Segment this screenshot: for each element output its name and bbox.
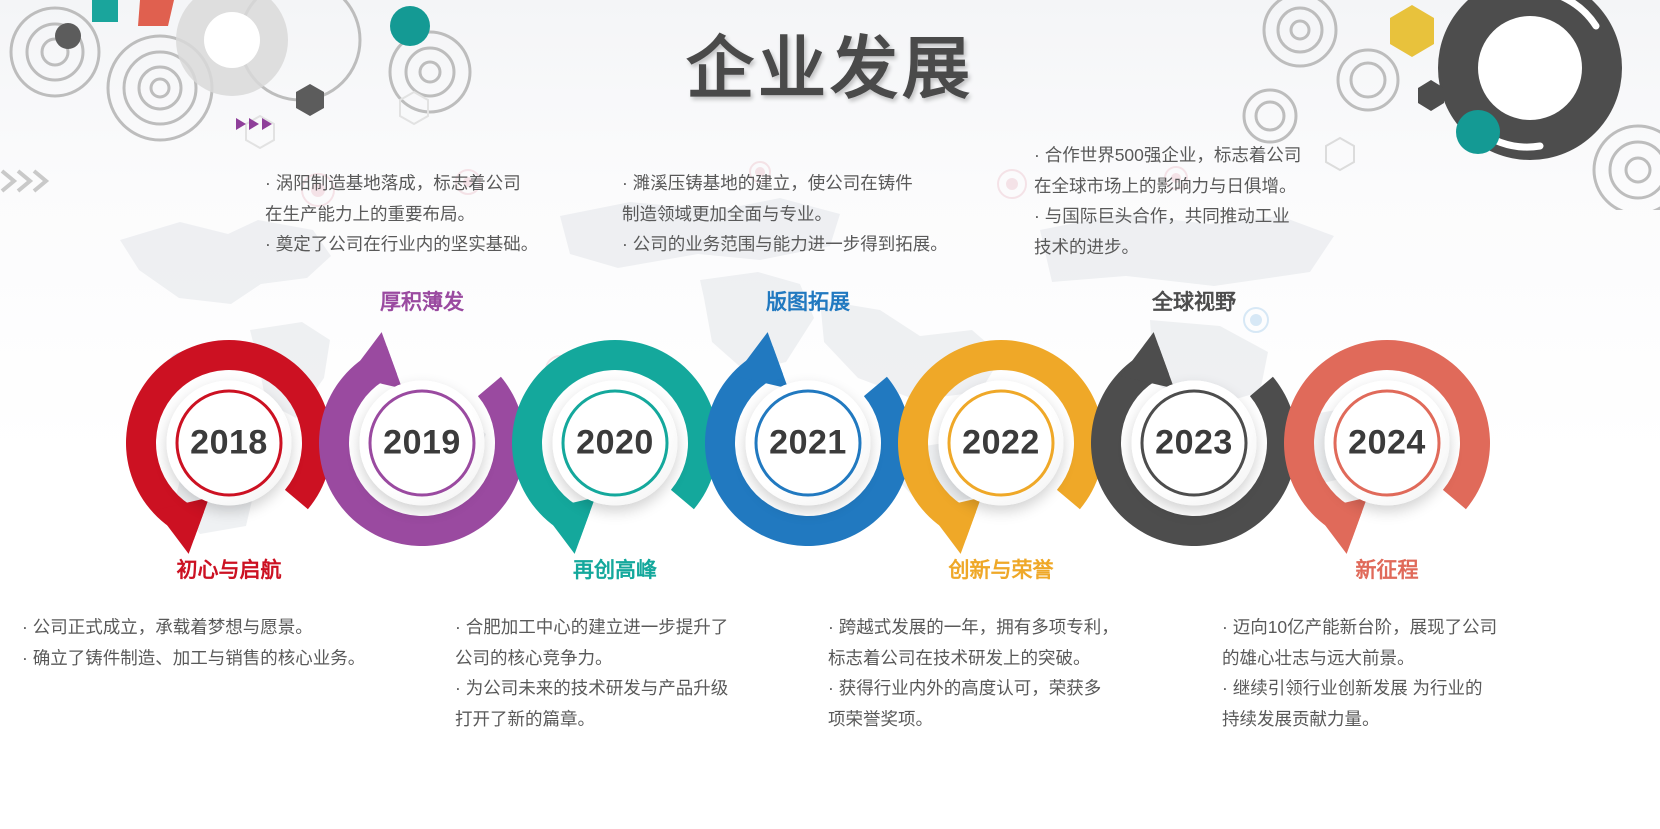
note-block-2018: · 涡阳制造基地落成，标志着公司 在生产能力上的重要布局。 · 奠定了公司在行业…	[265, 168, 538, 260]
year-label-2021: 2021	[769, 424, 847, 463]
milestone-label-2019: 厚积薄发	[380, 286, 464, 316]
year-medallion-2018: 2018	[167, 381, 292, 506]
milestone-label-2021: 版图拓展	[766, 286, 850, 316]
timeline-node-2024[interactable]: 2024	[1262, 318, 1512, 568]
year-ring-2019: 2019	[369, 390, 476, 497]
year-medallion-2019: 2019	[360, 381, 485, 506]
year-ring-2018: 2018	[176, 390, 283, 497]
triple-arrow-accent	[236, 116, 282, 132]
year-medallion-2022: 2022	[939, 381, 1064, 506]
year-medallion-2023: 2023	[1132, 381, 1257, 506]
year-medallion-2020: 2020	[553, 381, 678, 506]
year-label-2018: 2018	[190, 424, 268, 463]
year-label-2022: 2022	[962, 424, 1040, 463]
timeline: 2018201920202021202220232024	[0, 318, 1660, 568]
year-label-2020: 2020	[576, 424, 654, 463]
slide-canvas: 企业发展 · 涡阳制造基地落成，标志着公司 在生产能力上的重要布局。 · 奠定了…	[0, 0, 1660, 829]
note-block-2022-bottom: · 跨越式发展的一年，拥有多项专利， 标志着公司在技术研发上的突破。 · 获得行…	[828, 612, 1119, 735]
year-label-2019: 2019	[383, 424, 461, 463]
note-block-2022: · 合作世界500强企业，标志着公司 在全球市场上的影响力与日俱增。 · 与国际…	[1034, 140, 1301, 263]
note-block-2024-bottom: · 迈向10亿产能新台阶，展现了公司 的雄心壮志与远大前景。 · 继续引领行业创…	[1222, 612, 1497, 735]
year-medallion-2021: 2021	[746, 381, 871, 506]
note-block-2020: · 濉溪压铸基地的建立，使公司在铸件 制造领域更加全面与专业。 · 公司的业务范…	[622, 168, 948, 260]
year-label-2024: 2024	[1348, 424, 1426, 463]
year-ring-2023: 2023	[1141, 390, 1248, 497]
year-ring-2021: 2021	[755, 390, 862, 497]
year-ring-2024: 2024	[1334, 390, 1441, 497]
chevron-accent-left	[0, 168, 60, 194]
milestone-label-2023: 全球视野	[1152, 286, 1236, 316]
note-block-2018-bottom: · 公司正式成立，承载着梦想与愿景。 · 确立了铸件制造、加工与销售的核心业务。	[22, 612, 365, 673]
page-title: 企业发展	[0, 30, 1660, 108]
year-medallion-2024: 2024	[1325, 381, 1450, 506]
year-ring-2020: 2020	[562, 390, 669, 497]
year-ring-2022: 2022	[948, 390, 1055, 497]
note-block-2020-bottom: · 合肥加工中心的建立进一步提升了 公司的核心竞争力。 · 为公司未来的技术研发…	[455, 612, 728, 735]
year-label-2023: 2023	[1155, 424, 1233, 463]
